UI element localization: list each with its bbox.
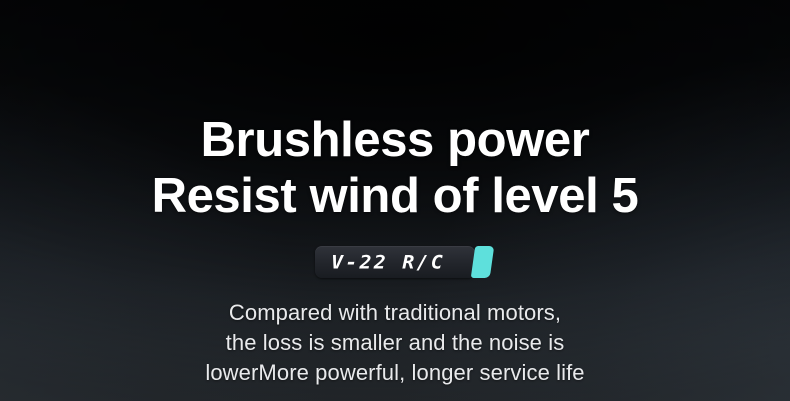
product-hero-banner: Brushless power Resist wind of level 5 V… <box>0 0 790 401</box>
description-line-3: lowerMore powerful, longer service life <box>205 358 584 388</box>
model-badge: V-22 R/C <box>315 246 475 278</box>
badge-accent-block <box>471 246 494 278</box>
model-badge-label: V-22 R/C <box>331 251 445 273</box>
headline-line-1: Brushless power <box>152 112 639 168</box>
description-line-1: Compared with traditional motors, <box>205 298 584 328</box>
description: Compared with traditional motors, the lo… <box>205 278 584 388</box>
headline-line-2: Resist wind of level 5 <box>152 168 639 224</box>
banner-content: Brushless power Resist wind of level 5 V… <box>0 0 790 401</box>
headline: Brushless power Resist wind of level 5 <box>152 0 639 224</box>
description-line-2: the loss is smaller and the noise is <box>205 328 584 358</box>
